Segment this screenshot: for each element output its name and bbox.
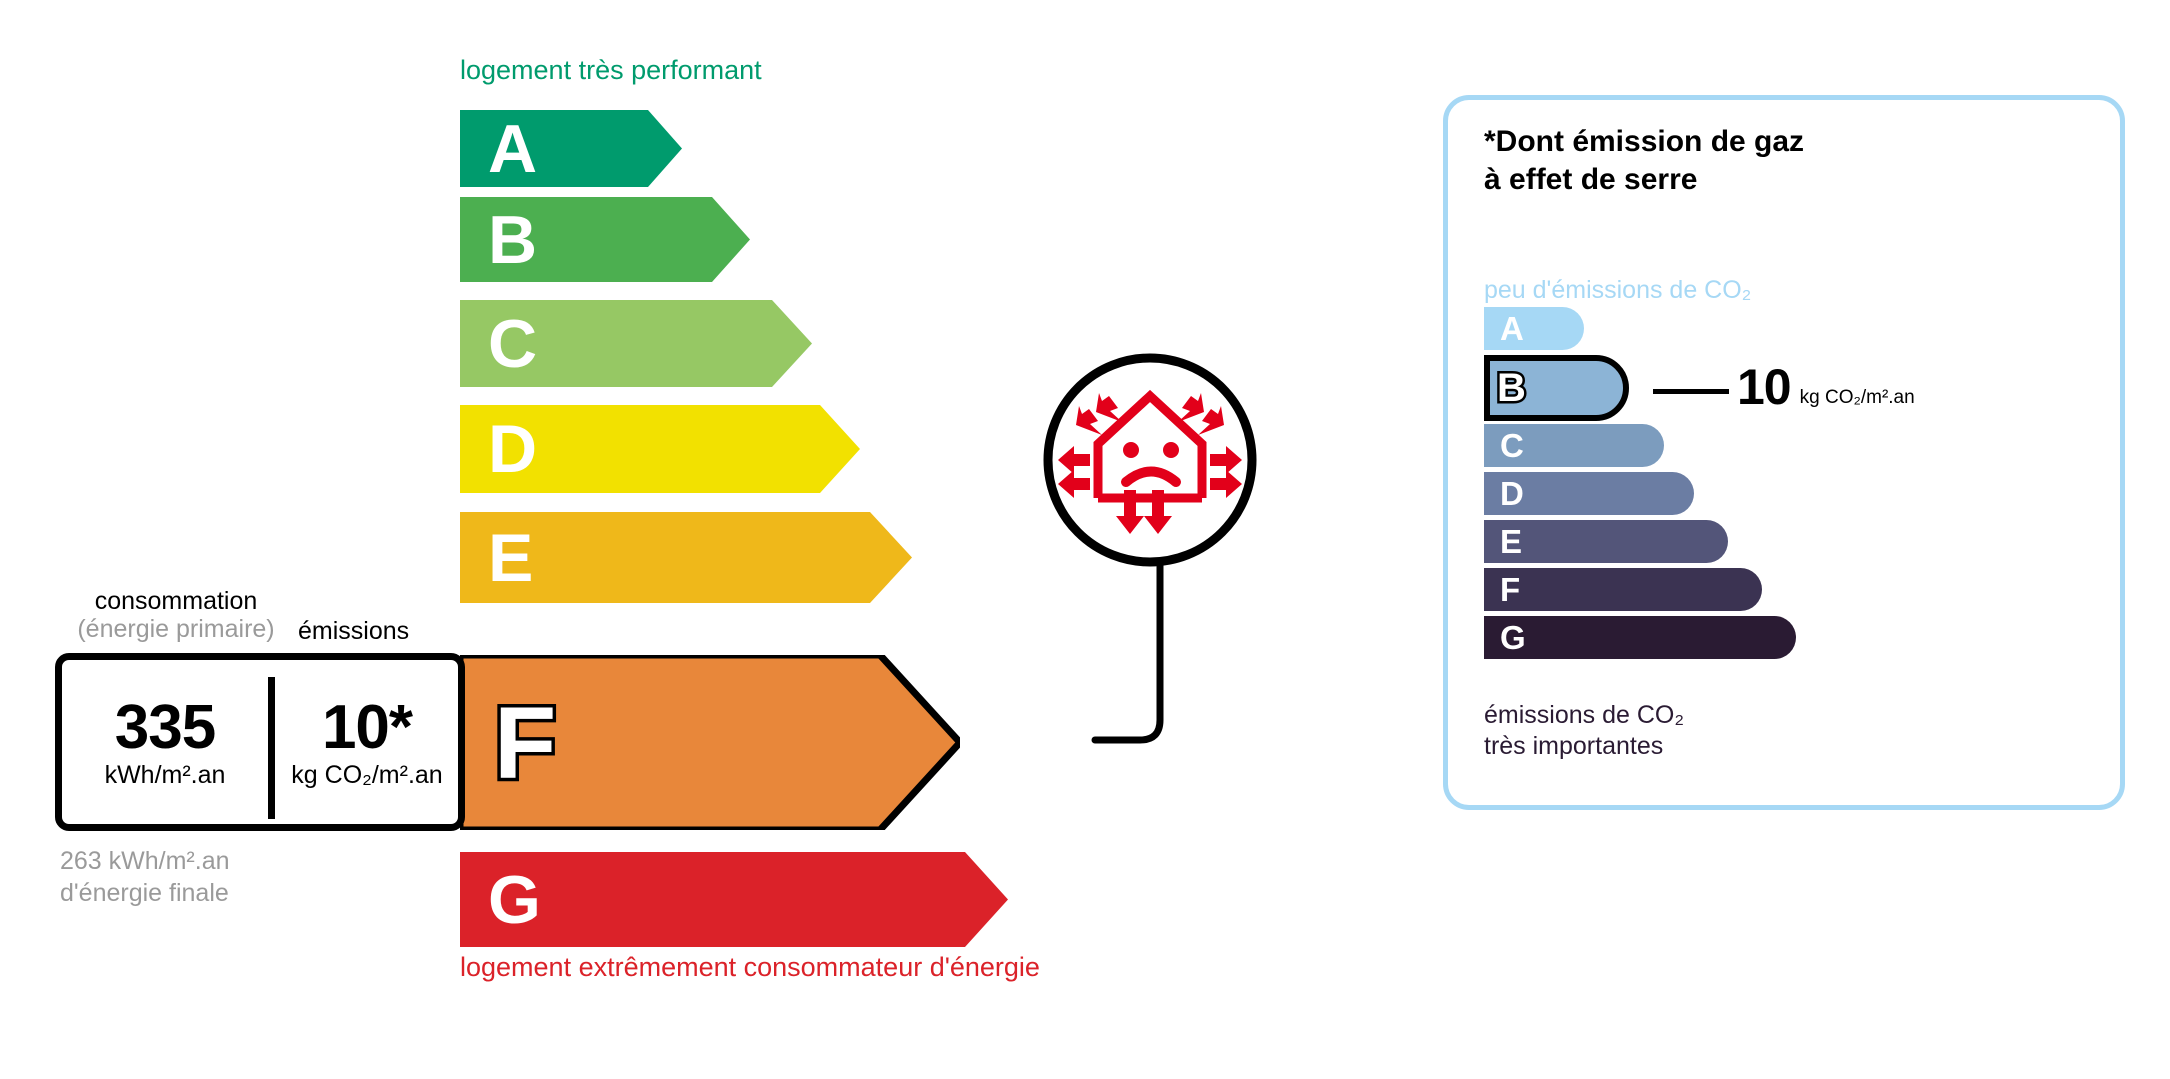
- ges-bar-c: C: [1484, 424, 1664, 467]
- ges-bar-shape: [1484, 568, 1762, 611]
- badge-connector-line: [1080, 540, 1260, 770]
- primary-energy-cell: 335 kWh/m².an: [62, 660, 268, 824]
- ges-bar-shape: [1484, 616, 1796, 659]
- ges-bar-d: D: [1484, 472, 1694, 515]
- ges-bar-b: B: [1484, 355, 1629, 421]
- ges-bar-letter: F: [1500, 573, 1520, 606]
- ges-callout-value: 10: [1737, 362, 1791, 412]
- ges-bar-letter: B: [1497, 368, 1526, 408]
- primary-energy-value: 335: [115, 697, 215, 759]
- ges-bottom-line2: très importantes: [1484, 731, 1684, 762]
- ges-leader-line: [1653, 389, 1729, 394]
- ges-bar-letter: E: [1500, 525, 1522, 558]
- sad-house-energy-loss-icon: [1040, 350, 1260, 570]
- ges-bottom-line1: émissions de CO₂: [1484, 700, 1684, 731]
- dpe-diagram: logement très performant ABCDEFG: [0, 0, 2170, 1079]
- ges-value-cell: 10* kg CO₂/m².an: [275, 660, 459, 824]
- ges-callout: 10 kg CO₂/m².an: [1737, 362, 1915, 412]
- ges-bar-letter: D: [1500, 477, 1524, 510]
- value-box: 335 kWh/m².an 10* kg CO₂/m².an: [55, 653, 465, 831]
- ges-bar-e: E: [1484, 520, 1728, 563]
- ges-bar-a: A: [1484, 307, 1584, 350]
- ges-bar-f: F: [1484, 568, 1762, 611]
- ges-bottom-label: émissions de CO₂ très importantes: [1484, 700, 1684, 762]
- ges-bar-shape: [1484, 307, 1584, 350]
- ges-callout-unit: kg CO₂/m².an: [1800, 388, 1915, 407]
- ges-bar-letter: A: [1500, 312, 1524, 345]
- ges-value-unit: kg CO₂/m².an: [291, 763, 442, 788]
- ges-bar-letter: G: [1500, 621, 1526, 654]
- primary-energy-unit: kWh/m².an: [105, 763, 226, 788]
- ges-bar-g: G: [1484, 616, 1796, 659]
- ges-value: 10*: [322, 697, 412, 759]
- value-box-divider: [268, 677, 275, 819]
- ges-bar-letter: C: [1500, 429, 1524, 462]
